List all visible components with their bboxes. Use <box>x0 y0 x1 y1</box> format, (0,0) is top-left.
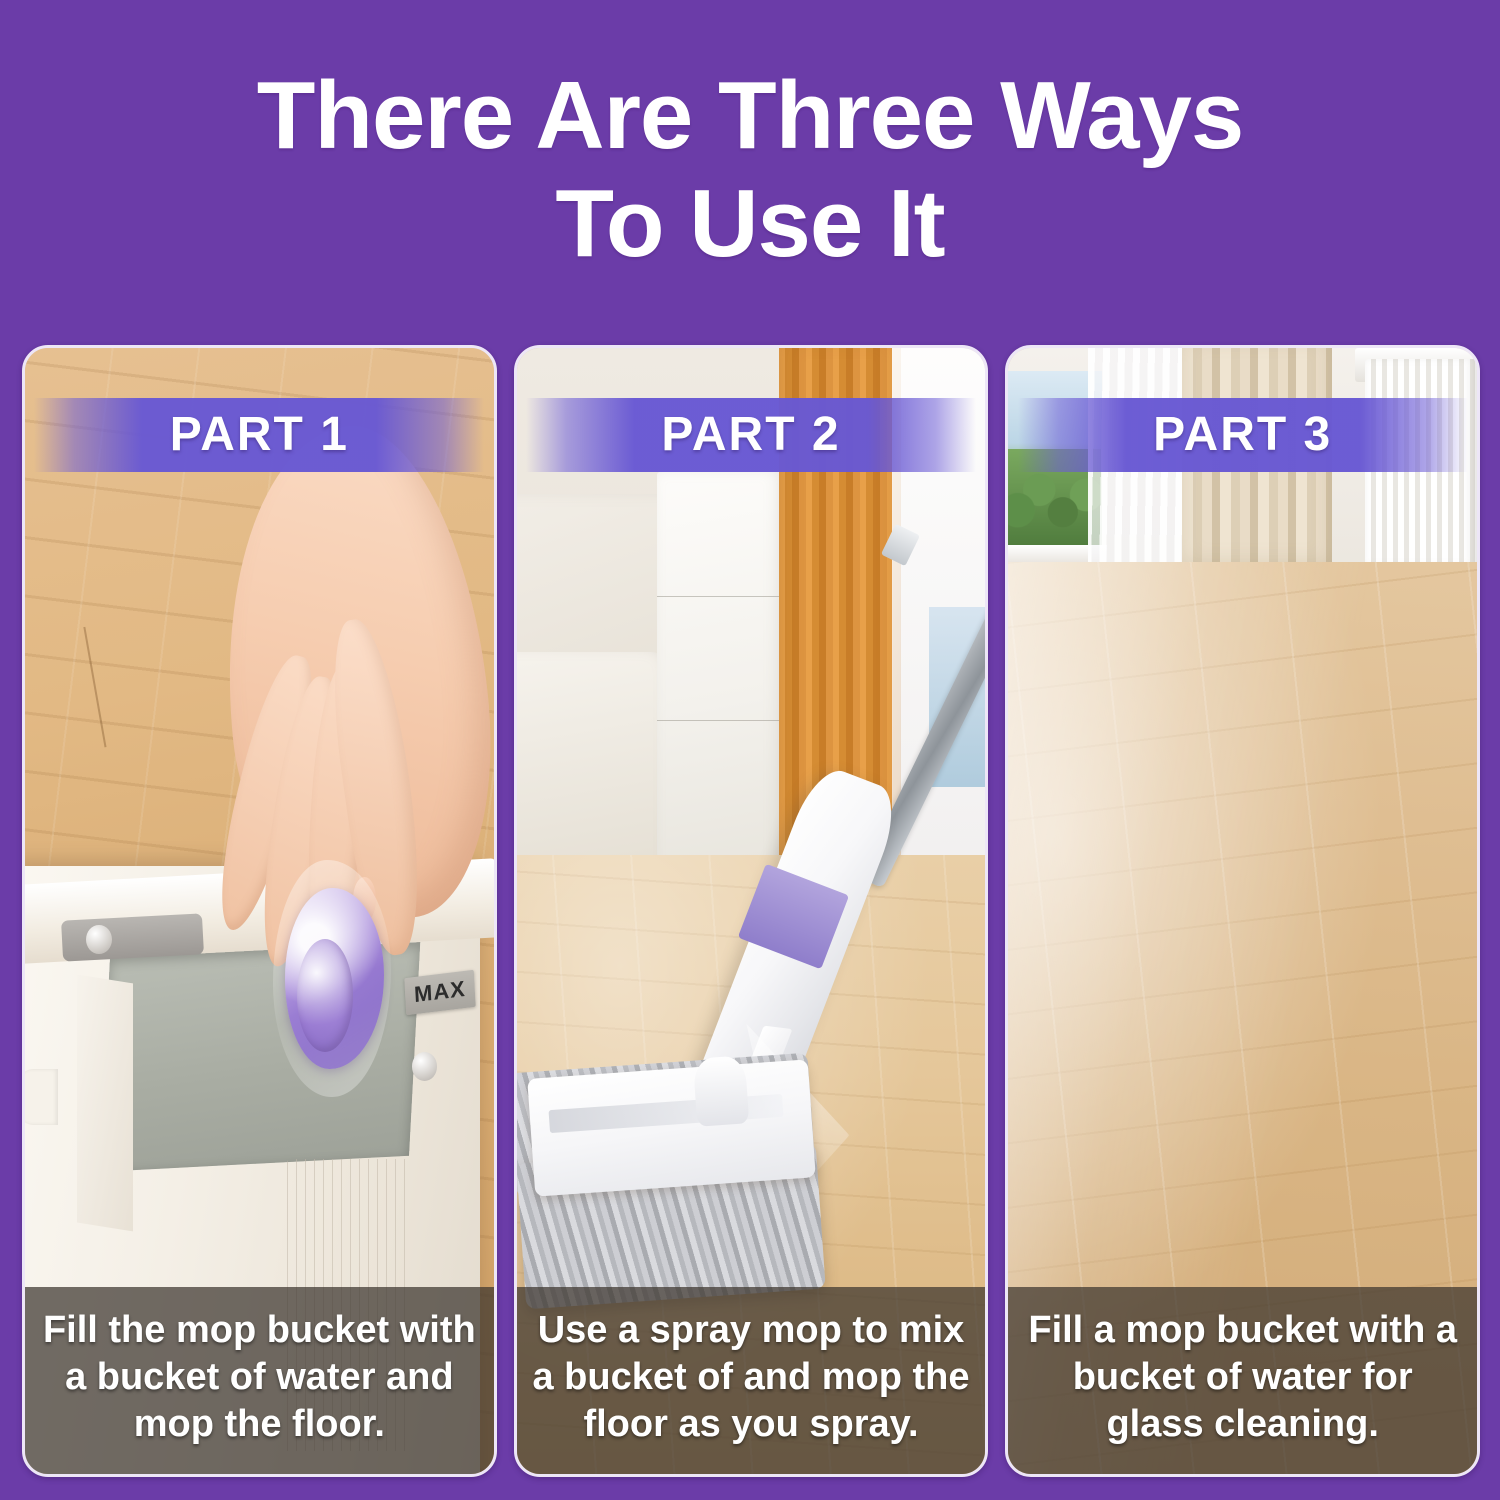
white-cabinet <box>657 472 788 889</box>
mop-head-hinge <box>692 1056 748 1127</box>
panel-grid: MAX PART 1 Fill the mop bucket with a bu… <box>22 345 1480 1477</box>
badge-label-part-1: PART 1 <box>170 407 349 462</box>
bucket-pivot-knob-left <box>86 925 112 954</box>
badge-label-part-3: PART 3 <box>1153 407 1332 462</box>
caption-bar-part-3: Fill a mop bucket with a bucket of water… <box>1008 1287 1477 1474</box>
bucket-inner-divider <box>77 974 133 1231</box>
panel-part-2[interactable]: PART 2 Use a spray mop to mix a bucket o… <box>514 345 989 1477</box>
caption-text-part-1: Fill the mop bucket with a bucket of wat… <box>39 1307 480 1447</box>
caption-text-part-3: Fill a mop bucket with a bucket of water… <box>1022 1307 1463 1447</box>
caption-bar-part-1: Fill the mop bucket with a bucket of wat… <box>25 1287 494 1474</box>
panel-part-1[interactable]: MAX PART 1 Fill the mop bucket with a bu… <box>22 345 497 1477</box>
cabinet-seam-upper <box>657 596 788 597</box>
badge-label-part-2: PART 2 <box>661 407 840 462</box>
page-title-line-1: There Are Three Ways <box>0 62 1500 170</box>
bucket-side-hook <box>25 1069 58 1125</box>
page-title: There Are Three Ways To Use It <box>0 62 1500 279</box>
caption-bar-part-2: Use a spray mop to mix a bucket of and m… <box>517 1287 986 1474</box>
badge-part-2: PART 2 <box>526 398 976 472</box>
badge-part-3: PART 3 <box>1018 398 1468 472</box>
cleaning-pod-film <box>273 860 390 1096</box>
badge-part-1: PART 1 <box>34 398 484 472</box>
caption-text-part-2: Use a spray mop to mix a bucket of and m… <box>531 1307 972 1447</box>
cabinet-seam-lower <box>657 720 788 721</box>
bucket-handle-bracket <box>62 913 205 961</box>
page-title-line-2: To Use It <box>0 170 1500 278</box>
panel-part-3[interactable]: PART 3 Fill a mop bucket with a bucket o… <box>1005 345 1480 1477</box>
